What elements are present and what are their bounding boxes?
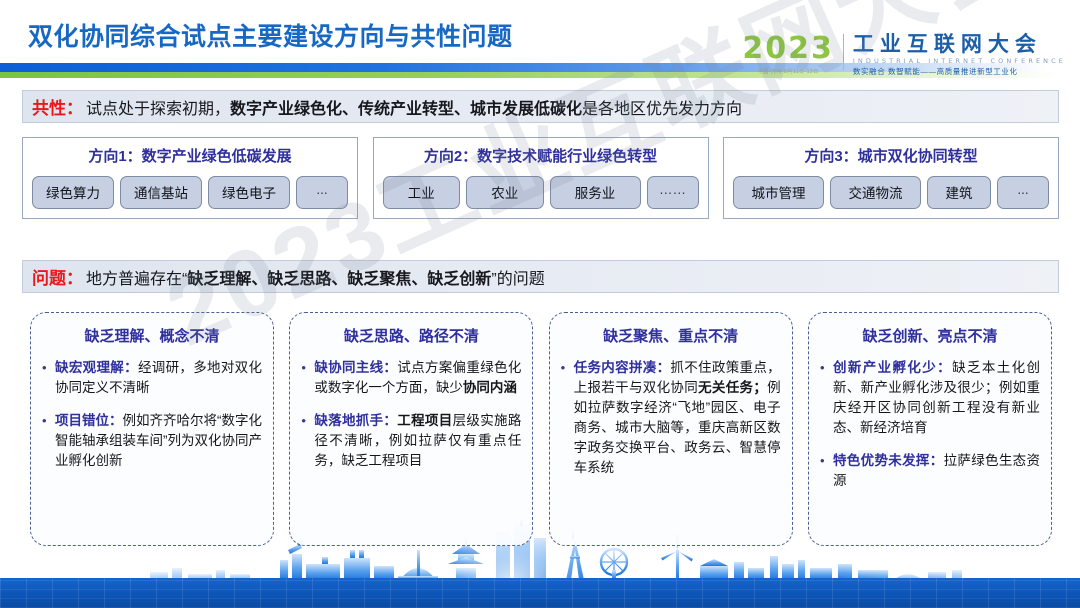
- bullet-dot-icon: •: [561, 358, 574, 478]
- problem-card-4-bullet-2: • 特色优势未发挥：拉萨绿色生态资源: [820, 451, 1040, 491]
- bullet-lead: 任务内容拼凑：: [574, 360, 671, 375]
- logo-name-block: 工业互联网大会 INDUSTRIAL INTERNET CONFERENCE 数…: [853, 34, 1066, 75]
- page-title: 双化协同综合试点主要建设方向与共性问题: [28, 17, 513, 53]
- direction-2-chip-2[interactable]: 农业: [466, 176, 544, 209]
- problem-card-1-bullet-1: • 缺宏观理解：经调研，多地对双化协同定义不清晰: [42, 358, 262, 398]
- problem-card-row: 缺乏理解、概念不清 • 缺宏观理解：经调研，多地对双化协同定义不清晰 • 项目错…: [30, 312, 1052, 546]
- logo-name-en: INDUSTRIAL INTERNET CONFERENCE: [853, 58, 1066, 65]
- problem-card-3-bullet-1: • 任务内容拼凑：抓不住政策重点，上报若干与双化协同无关任务；例如拉萨数字经济“…: [561, 358, 781, 478]
- direction-3-chip-2[interactable]: 交通物流: [830, 176, 921, 209]
- logo-year: 2023: [742, 34, 834, 64]
- bullet-lead: 项目错位：: [55, 413, 123, 428]
- direction-3-chip-more[interactable]: ...: [997, 176, 1049, 209]
- direction-box-2: 方向2：数字技术赋能行业绿色转型 工业 农业 服务业 ……: [373, 137, 709, 219]
- logo-name-cn: 工业互联网大会: [853, 34, 1066, 55]
- direction-box-1: 方向1：数字产业绿色低碳发展 绿色算力 通信基站 绿色电子 ...: [22, 137, 358, 219]
- bullet-dot-icon: •: [301, 411, 314, 471]
- direction-3-chips: 城市管理 交通物流 建筑 ...: [733, 176, 1049, 209]
- commonality-banner-tag: 共性：: [32, 94, 83, 119]
- bullet-emphasis: 协同内涵: [463, 380, 517, 395]
- bullet-dot-icon: •: [820, 451, 833, 491]
- commonality-banner-text: 试点处于探索初期，数字产业绿色化、传统产业转型、城市发展低碳化是各地区优先发力方…: [86, 95, 742, 119]
- bullet-emphasis: 无关任务；: [698, 380, 767, 395]
- bullet-dot-icon: •: [820, 358, 833, 438]
- problem-card-2-bullet-1: • 缺协同主线：试点方案偏重绿色化或数字化一个方面，缺少协同内涵: [301, 358, 521, 398]
- problem-text-before: 地方普遍存在“: [86, 271, 187, 288]
- conference-logo: 2023 中国·苏州 8月11日-13日 工业互联网大会 INDUSTRIAL …: [742, 34, 1066, 75]
- problem-text-bold: 缺乏理解、缺乏思路、缺乏聚焦、缺乏创新: [187, 271, 491, 288]
- bullet-lead: 缺落地抓手：: [314, 413, 397, 428]
- problem-card-3-title: 缺乏聚焦、重点不清: [561, 325, 781, 346]
- problem-card-4-title: 缺乏创新、亮点不清: [820, 325, 1040, 346]
- bullet-lead: 创新产业孵化少：: [833, 360, 952, 375]
- bullet-emphasis-first: 工程项目: [397, 413, 452, 428]
- problem-banner-text: 地方普遍存在“缺乏理解、缺乏思路、缺乏聚焦、缺乏创新”的问题: [86, 265, 545, 289]
- direction-2-chip-1[interactable]: 工业: [383, 176, 461, 209]
- problem-card-1: 缺乏理解、概念不清 • 缺宏观理解：经调研，多地对双化协同定义不清晰 • 项目错…: [30, 312, 274, 546]
- logo-divider: [843, 34, 844, 70]
- direction-1-chips: 绿色算力 通信基站 绿色电子 ...: [32, 176, 348, 209]
- problem-card-3-bullet-1-body: 任务内容拼凑：抓不住政策重点，上报若干与双化协同无关任务；例如拉萨数字经济“飞地…: [574, 358, 781, 478]
- direction-1-chip-more[interactable]: ...: [296, 176, 348, 209]
- problem-banner: 问题： 地方普遍存在“缺乏理解、缺乏思路、缺乏聚焦、缺乏创新”的问题: [22, 260, 1059, 293]
- problem-card-1-bullet-1-body: 缺宏观理解：经调研，多地对双化协同定义不清晰: [55, 358, 262, 398]
- footer-ground-grid: [0, 578, 1080, 608]
- problem-card-3: 缺乏聚焦、重点不清 • 任务内容拼凑：抓不住政策重点，上报若干与双化协同无关任务…: [549, 312, 793, 546]
- commonality-text-bold: 数字产业绿色化、传统产业转型、城市发展低碳化: [230, 101, 582, 118]
- problem-text-after: ”的问题: [491, 271, 544, 288]
- bullet-lead: 缺宏观理解：: [55, 360, 138, 375]
- problem-card-1-bullet-2: • 项目错位：例如齐齐哈尔将“数字化智能轴承组装车间”列为双化协同产业孵化创新: [42, 411, 262, 471]
- direction-box-3: 方向3：城市双化协同转型 城市管理 交通物流 建筑 ...: [723, 137, 1059, 219]
- problem-card-4: 缺乏创新、亮点不清 • 创新产业孵化少：缺乏本土化创新、新产业孵化涉及很少；例如…: [808, 312, 1052, 546]
- direction-3-chip-1[interactable]: 城市管理: [733, 176, 824, 209]
- logo-year-block: 2023 中国·苏州 8月11日-13日: [742, 34, 843, 75]
- problem-card-4-bullet-1: • 创新产业孵化少：缺乏本土化创新、新产业孵化涉及很少；例如重庆经开区协同创新工…: [820, 358, 1040, 438]
- logo-year-subtitle: 中国·苏州 8月11日-13日: [742, 68, 834, 75]
- problem-card-1-title: 缺乏理解、概念不清: [42, 325, 262, 346]
- direction-3-title: 方向3：城市双化协同转型: [733, 145, 1049, 166]
- direction-1-chip-2[interactable]: 通信基站: [120, 176, 202, 209]
- direction-1-title: 方向1：数字产业绿色低碳发展: [32, 145, 348, 166]
- problem-card-2: 缺乏思路、路径不清 • 缺协同主线：试点方案偏重绿色化或数字化一个方面，缺少协同…: [289, 312, 533, 546]
- problem-card-4-bullet-1-body: 创新产业孵化少：缺乏本土化创新、新产业孵化涉及很少；例如重庆经开区协同创新工程没…: [833, 358, 1040, 438]
- problem-card-2-bullet-1-body: 缺协同主线：试点方案偏重绿色化或数字化一个方面，缺少协同内涵: [314, 358, 521, 398]
- direction-2-chip-more[interactable]: ……: [647, 176, 699, 209]
- bullet-dot-icon: •: [301, 358, 314, 398]
- commonality-text-before: 试点处于探索初期，: [86, 101, 230, 118]
- direction-1-chip-3[interactable]: 绿色电子: [208, 176, 290, 209]
- direction-2-chip-3[interactable]: 服务业: [550, 176, 641, 209]
- bullet-dot-icon: •: [42, 411, 55, 471]
- problem-banner-tag: 问题：: [32, 264, 83, 289]
- bullet-lead: 缺协同主线：: [314, 360, 397, 375]
- direction-3-chip-3[interactable]: 建筑: [927, 176, 991, 209]
- direction-box-row: 方向1：数字产业绿色低碳发展 绿色算力 通信基站 绿色电子 ... 方向2：数字…: [22, 137, 1059, 219]
- problem-card-2-title: 缺乏思路、路径不清: [301, 325, 521, 346]
- direction-2-chips: 工业 农业 服务业 ……: [383, 176, 699, 209]
- slide-root: 双化协同综合试点主要建设方向与共性问题 2023 中国·苏州 8月11日-13日…: [0, 0, 1080, 608]
- direction-2-title: 方向2：数字技术赋能行业绿色转型: [383, 145, 699, 166]
- problem-card-1-bullet-2-body: 项目错位：例如齐齐哈尔将“数字化智能轴承组装车间”列为双化协同产业孵化创新: [55, 411, 262, 471]
- problem-card-2-bullet-2: • 缺落地抓手：工程项目层级实施路径不清晰，例如拉萨仅有重点任务，缺乏工程项目: [301, 411, 521, 471]
- problem-card-4-bullet-2-body: 特色优势未发挥：拉萨绿色生态资源: [833, 451, 1040, 491]
- direction-1-chip-1[interactable]: 绿色算力: [32, 176, 114, 209]
- commonality-banner: 共性： 试点处于探索初期，数字产业绿色化、传统产业转型、城市发展低碳化是各地区优…: [22, 90, 1059, 123]
- logo-slogan: 数实融合 数智赋能——高质量推进新型工业化: [853, 68, 1066, 76]
- bullet-lead: 特色优势未发挥：: [833, 453, 944, 468]
- commonality-text-after: 是各地区优先发力方向: [582, 101, 742, 118]
- bullet-dot-icon: •: [42, 358, 55, 398]
- problem-card-2-bullet-2-body: 缺落地抓手：工程项目层级实施路径不清晰，例如拉萨仅有重点任务，缺乏工程项目: [314, 411, 521, 471]
